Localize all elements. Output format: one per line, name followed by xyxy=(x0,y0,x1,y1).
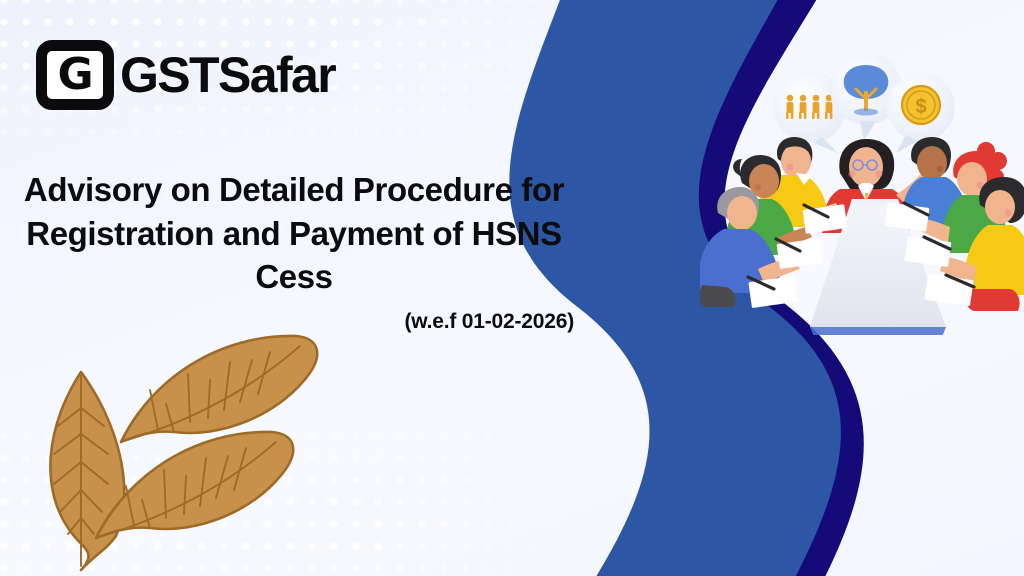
logo-mark-icon: G xyxy=(36,40,114,110)
meeting-illustration: $ xyxy=(700,55,1024,335)
leaf-lower-right xyxy=(96,432,293,538)
effective-date-note: (w.e.f 01-02-2026) xyxy=(14,310,574,334)
svg-text:$: $ xyxy=(915,96,926,118)
logo-mark-letter: G xyxy=(57,53,92,97)
leaf-upright xyxy=(50,372,124,570)
brand-logo[interactable]: G GSTSafar xyxy=(36,40,335,110)
brand-name: GSTSafar xyxy=(120,50,335,100)
leaf-upper-right xyxy=(121,336,317,442)
leaf-decoration-group xyxy=(24,330,364,576)
advisory-banner: $ xyxy=(0,0,1024,576)
dollar-coin-icon: $ xyxy=(902,86,940,124)
page-title: Advisory on Detailed Procedure for Regis… xyxy=(14,168,574,299)
